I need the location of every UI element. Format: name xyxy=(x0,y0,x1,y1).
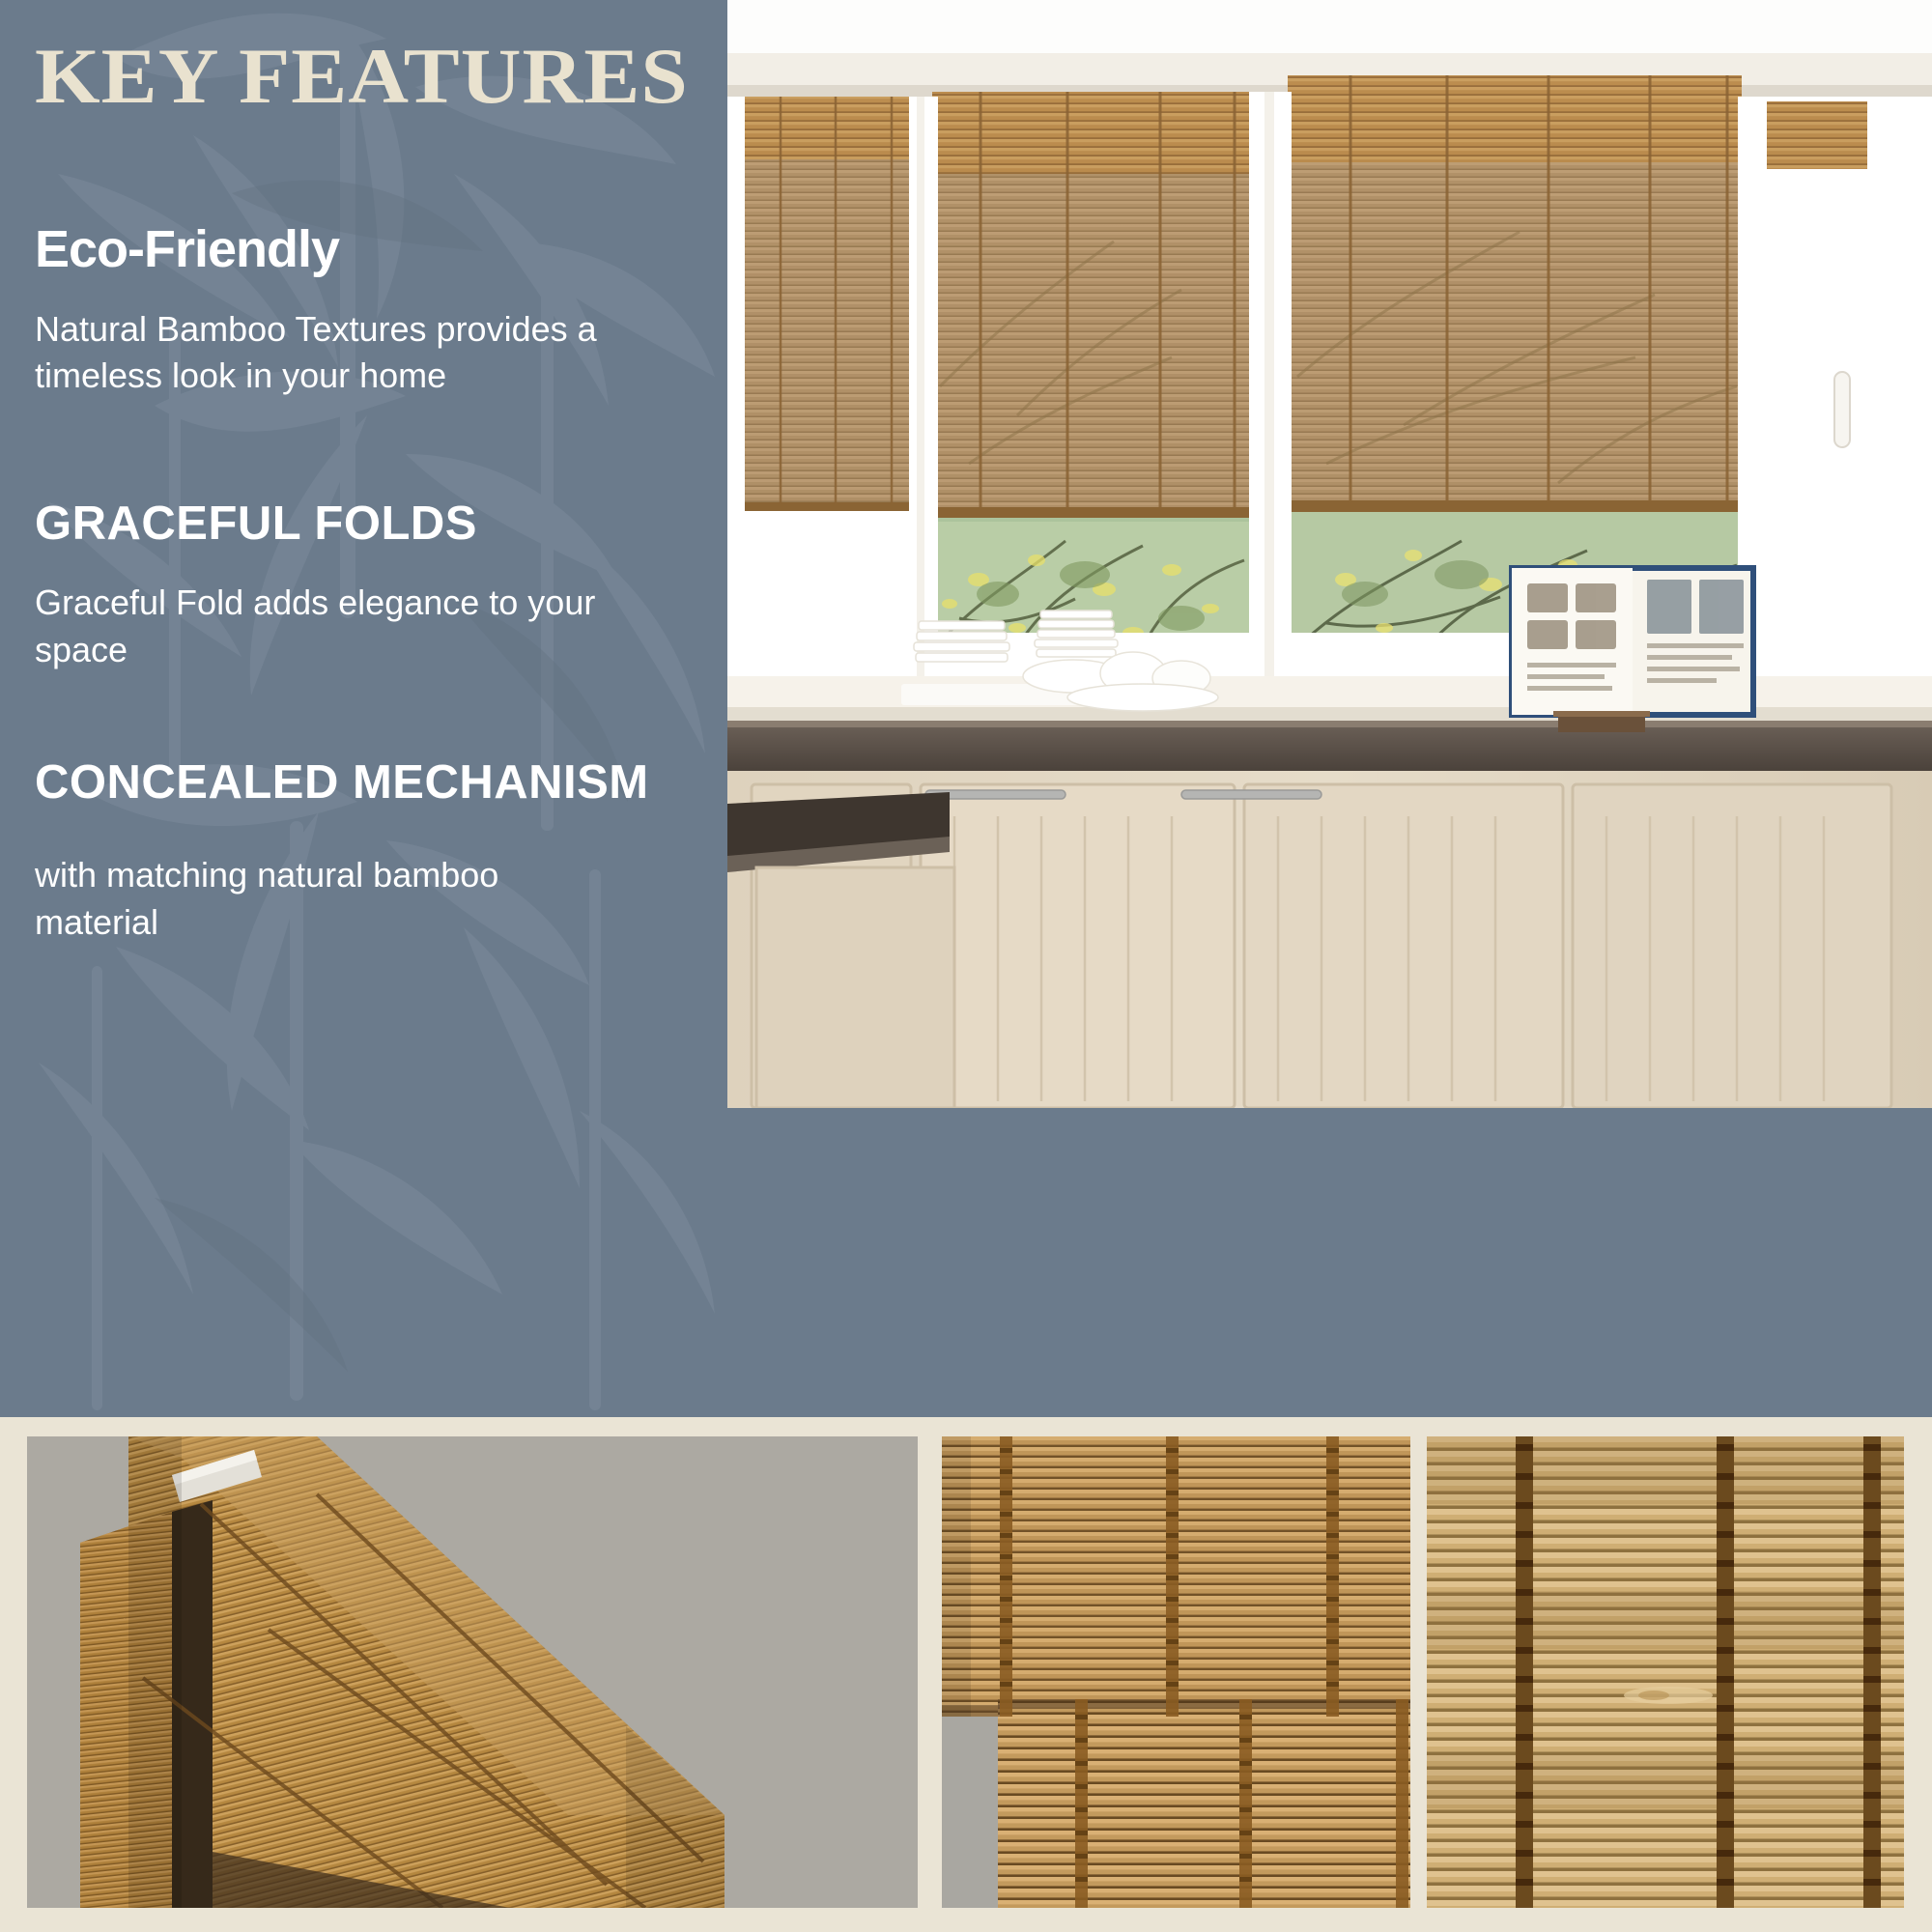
feature-body: Natural Bamboo Textures provides a timel… xyxy=(35,306,614,399)
gallery-thumb-overlapping-panels xyxy=(942,1436,1410,1908)
feature-body: Graceful Fold adds elegance to your spac… xyxy=(35,580,634,672)
gallery-thumb-weave-texture xyxy=(1427,1436,1904,1908)
feature-heading: CONCEALED MECHANISM xyxy=(35,758,649,808)
top-feature-panel: KEY FEATURES Eco-Friendly Natural Bamboo… xyxy=(0,0,1932,1417)
feature-block-concealed-mechanism: CONCEALED MECHANISM with matching natura… xyxy=(35,758,649,946)
gallery-thumb-angled-detail xyxy=(27,1436,918,1908)
hero-kitchen-photo xyxy=(727,0,1932,1108)
feature-block-graceful-folds: GRACEFUL FOLDS Graceful Fold adds elegan… xyxy=(35,499,634,673)
feature-heading: GRACEFUL FOLDS xyxy=(35,499,634,549)
feature-body: with matching natural bamboo material xyxy=(35,852,576,945)
feature-heading: Eco-Friendly xyxy=(35,222,614,277)
feature-text-column: KEY FEATURES Eco-Friendly Natural Bamboo… xyxy=(0,0,734,1417)
feature-block-eco-friendly: Eco-Friendly Natural Bamboo Textures pro… xyxy=(35,222,614,399)
bottom-gallery-strip xyxy=(0,1417,1932,1932)
page-title: KEY FEATURES xyxy=(35,37,776,116)
